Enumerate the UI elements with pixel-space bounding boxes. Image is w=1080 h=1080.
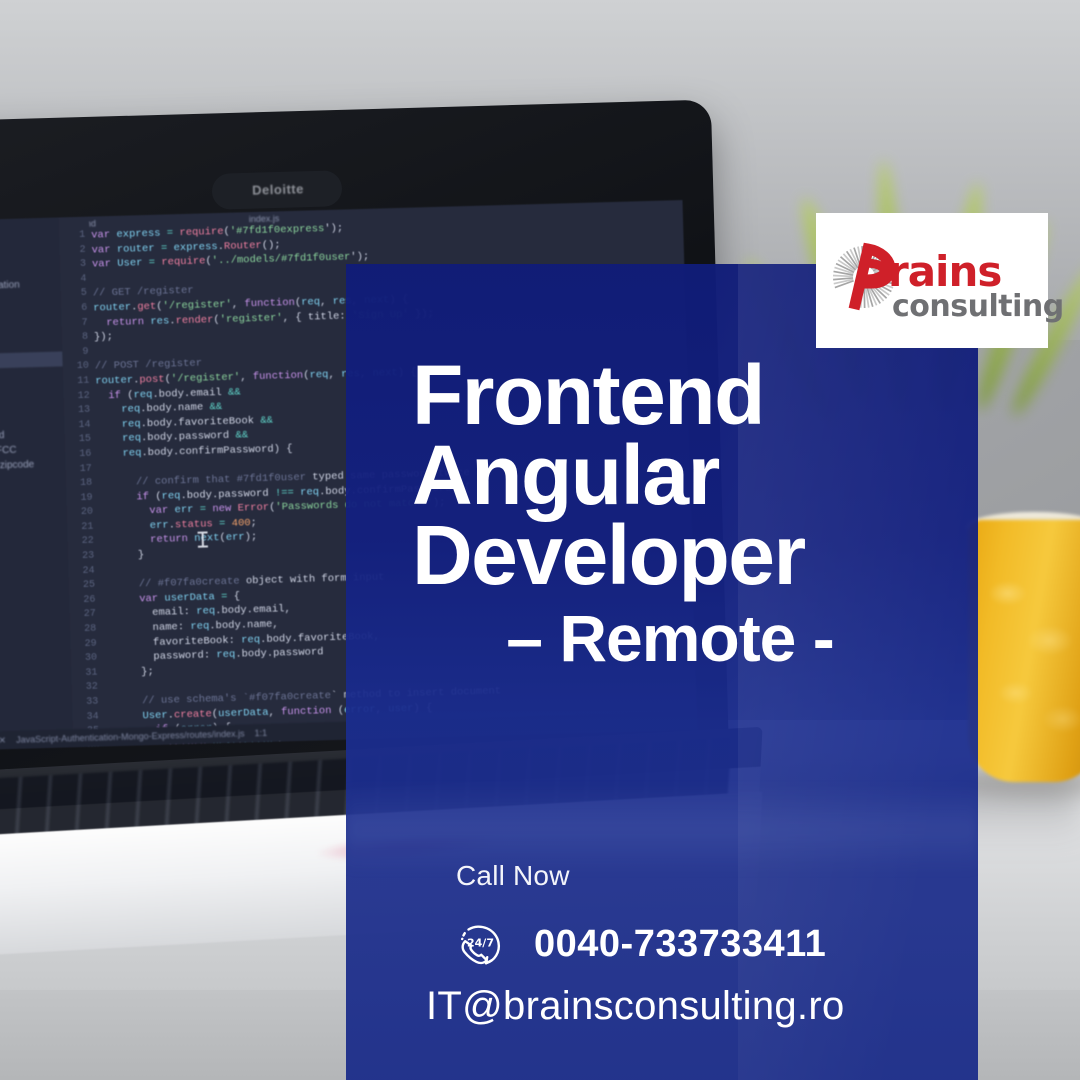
line-number: 2 [59, 243, 89, 258]
line-number: 34 [72, 710, 102, 725]
brand-logo: rains consulting [816, 213, 1048, 348]
line-number: 22 [68, 535, 98, 550]
line-number: 17 [66, 462, 96, 477]
sidebar-file-item[interactable]: Test [0, 516, 67, 534]
line-number: 10 [63, 360, 93, 375]
line-number: 4 [60, 272, 90, 287]
line-number: 28 [70, 623, 100, 638]
line-number: 30 [71, 652, 101, 667]
mug-pattern [968, 520, 1080, 782]
status-position: 1:1 [254, 728, 267, 738]
line-number: 14 [64, 418, 94, 433]
line-number: 8 [62, 331, 92, 346]
line-number: 11 [63, 375, 93, 390]
line-number: 5 [61, 287, 91, 302]
line-number: 32 [72, 681, 102, 696]
line-number: 13 [64, 404, 94, 419]
call-now-label: Call Now [456, 860, 570, 892]
text-cursor-icon [202, 532, 204, 548]
line-number: 33 [72, 695, 102, 710]
job-title-line-2: Angular [412, 436, 972, 516]
line-number: 29 [70, 637, 100, 652]
line-number: 18 [66, 477, 96, 492]
line-number: 31 [71, 666, 101, 681]
job-location-line: – Remote - [412, 607, 972, 670]
line-number: 9 [62, 345, 92, 360]
coffee-mug [968, 520, 1080, 782]
line-number: 20 [67, 506, 97, 521]
line-number: 26 [69, 593, 99, 608]
line-number: 16 [65, 447, 95, 462]
phone-number[interactable]: 0040-733733411 [534, 923, 826, 966]
line-number: 27 [70, 608, 100, 623]
status-close-icon[interactable]: ✕ [0, 735, 6, 746]
blue-content-panel: Frontend Angular Developer – Remote - Ca… [346, 264, 978, 1080]
logo-word-consulting: consulting [892, 289, 1064, 324]
line-number: 15 [65, 433, 95, 448]
email-address[interactable]: IT@brainsconsulting.ro [426, 984, 845, 1029]
line-number: 23 [68, 550, 98, 565]
svg-text:24/7: 24/7 [467, 937, 494, 950]
phone-row[interactable]: 24/7 0040-733733411 [452, 916, 826, 972]
job-ad-graphic: Deloitte enceresstributethentication js … [0, 0, 1080, 1080]
job-title-line-1: Frontend [412, 356, 972, 436]
line-number: 3 [60, 258, 90, 273]
job-title-line-3: Developer [412, 516, 972, 596]
line-number: 12 [64, 389, 94, 404]
phone-24-7-icon: 24/7 [452, 916, 508, 972]
status-path: JavaScript-Authentication-Mongo-Express/… [16, 728, 245, 744]
job-title: Frontend Angular Developer – Remote - [412, 356, 972, 670]
line-number: 25 [69, 579, 99, 594]
line-number: 6 [61, 302, 91, 317]
line-number: 19 [66, 491, 96, 506]
line-number: 7 [61, 316, 91, 331]
line-number: 1 [59, 229, 89, 244]
line-number: 21 [67, 520, 97, 535]
line-number: 24 [68, 564, 98, 579]
panel-streak [346, 784, 978, 874]
